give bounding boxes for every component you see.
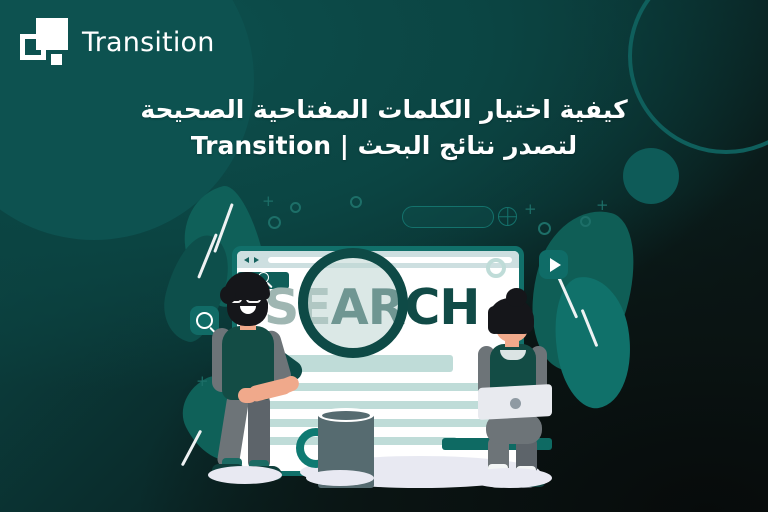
page-title: كيفية اختيار الكلمات المفتاحية الصحيحة ل… — [40, 92, 728, 163]
hero-illustration: + + + + SEARCH — [0, 180, 768, 512]
magnifying-glass-icon — [298, 248, 408, 358]
decorative-plus-icon: + — [524, 202, 537, 217]
floor-shadow — [208, 466, 282, 484]
play-icon — [550, 258, 561, 272]
person-man-with-magnifier — [196, 272, 306, 480]
floor-shadow — [306, 470, 374, 486]
page-title-line-1: كيفية اختيار الكلمات المفتاحية الصحيحة — [40, 92, 728, 128]
floor-shadow — [468, 468, 552, 488]
triangle-left-icon[interactable] — [244, 257, 249, 263]
logo-square-small — [51, 54, 62, 65]
gear-icon — [486, 258, 506, 278]
laptop-logo-dot — [510, 398, 521, 409]
page-title-line-2: لتصدر نتائج البحث | Transition — [40, 128, 728, 164]
decorative-ring-icon — [538, 222, 551, 235]
banner-canvas: Transition كيفية اختيار الكلمات المفتاحي… — [0, 0, 768, 512]
woman-hair — [488, 306, 501, 334]
brand-logo[interactable]: Transition — [20, 18, 215, 66]
decorative-ring-icon — [580, 216, 591, 227]
man-hair — [220, 286, 236, 304]
triangle-right-icon[interactable] — [254, 257, 259, 263]
brand-wordmark: Transition — [82, 27, 215, 58]
logo-square-outline — [20, 34, 46, 60]
man-hand — [238, 388, 257, 403]
nested-squares-logo-icon — [20, 18, 68, 66]
man-leg — [248, 394, 270, 470]
globe-icon — [498, 207, 517, 226]
decorative-plus-icon: + — [262, 194, 275, 209]
mini-search-bar[interactable] — [402, 206, 494, 228]
person-woman-with-laptop — [462, 288, 566, 484]
play-badge[interactable] — [539, 250, 568, 279]
decorative-ring-icon — [350, 196, 362, 208]
decorative-plus-icon: + — [596, 198, 609, 213]
decorative-ring-icon — [268, 216, 281, 229]
mug-interior — [322, 411, 370, 420]
woman-hair-bun — [506, 288, 527, 307]
decorative-ring-icon — [290, 202, 301, 213]
